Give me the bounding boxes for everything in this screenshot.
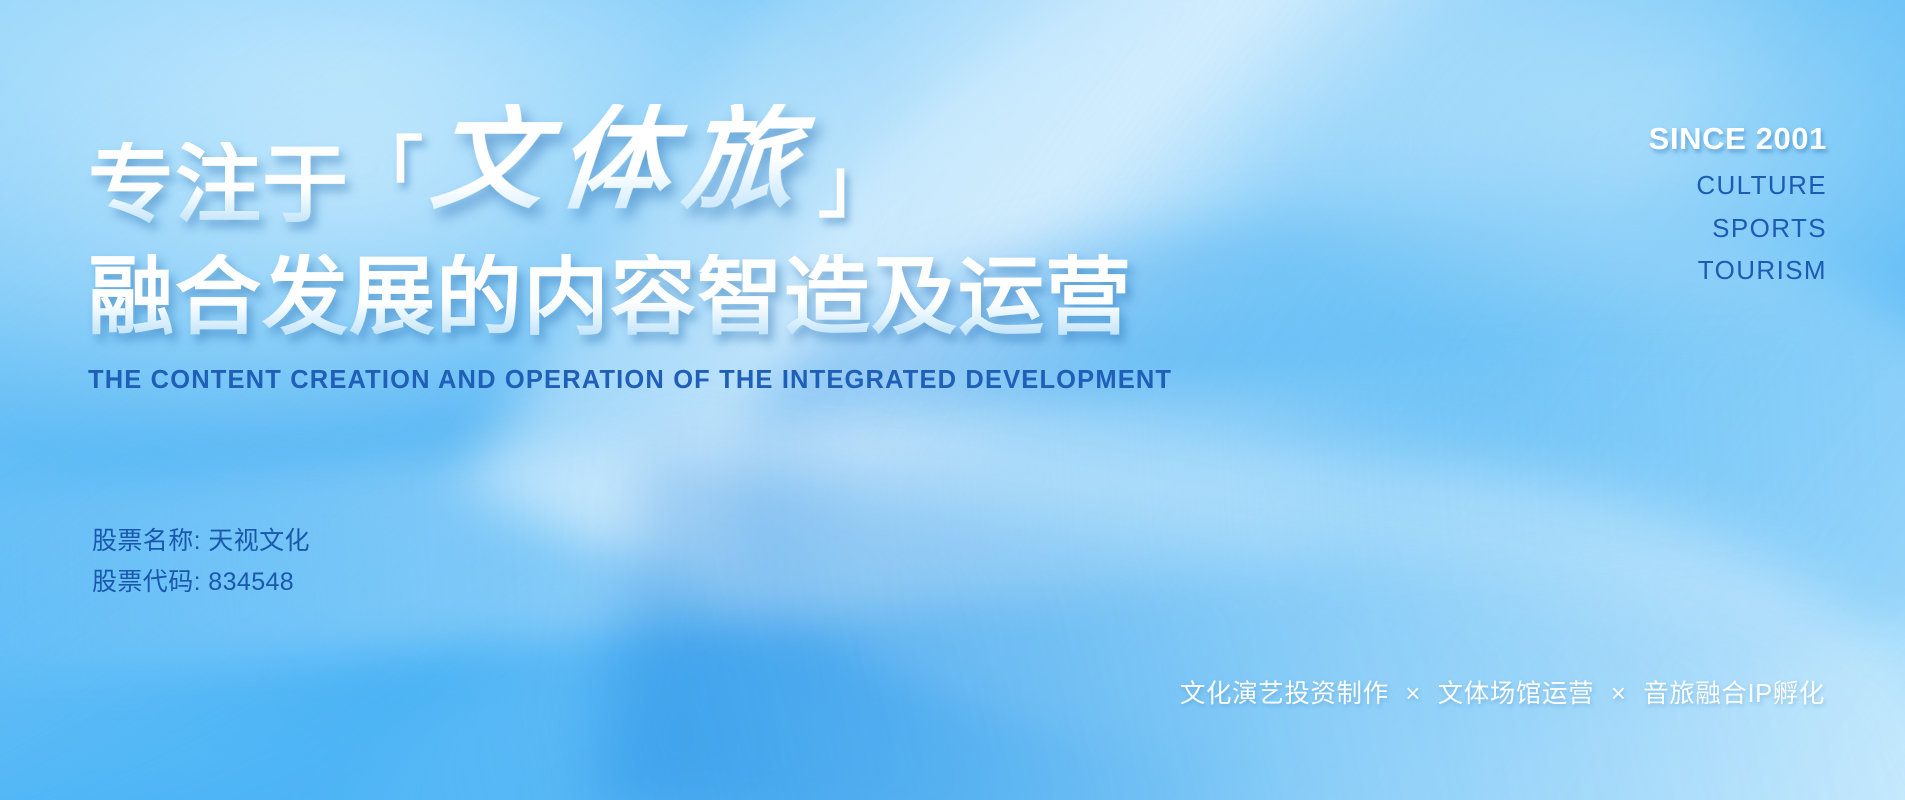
category-label-sports: SPORTS <box>1497 211 1827 246</box>
headline-line-2-text: 融合发展的内容智造及运营 <box>88 254 1132 340</box>
category-label-culture: CULTURE <box>1497 168 1827 203</box>
banner-content: 专注于 「 文体旅 」 融合发展的内容智造及运营 THE CONTENT CRE… <box>0 0 1905 800</box>
tagline-item-2: 文体场馆运营 <box>1438 680 1595 708</box>
stock-name: 股票名称: 天视文化 <box>92 521 310 562</box>
tagline-item-3: 音旅融合IP孵化 <box>1643 680 1825 708</box>
tagline-separator-2: × <box>1602 680 1636 708</box>
quote-open-bracket: 「 <box>349 136 426 208</box>
headline-line-2: 融合发展的内容智造及运营 <box>88 242 1268 340</box>
headline-calligraphy: 文体旅 <box>421 104 821 216</box>
headline-block: 专注于 「 文体旅 」 融合发展的内容智造及运营 THE CONTENT CRE… <box>88 128 1268 395</box>
since-year-label: SINCE 2001 <box>1497 122 1827 156</box>
stock-code: 股票代码: 834548 <box>92 562 310 603</box>
business-tagline: 文化演艺投资制作 × 文体场馆运营 × 音旅融合IP孵化 <box>1180 673 1825 710</box>
right-label-column: SINCE 2001 CULTURE SPORTS TOURISM <box>1497 122 1827 288</box>
quote-close-bracket: 」 <box>816 150 893 222</box>
banner-hero: 专注于 「 文体旅 」 融合发展的内容智造及运营 THE CONTENT CRE… <box>0 0 1905 800</box>
headline-subtitle-english: THE CONTENT CREATION AND OPERATION OF TH… <box>88 366 1268 395</box>
tagline-separator-1: × <box>1396 680 1430 708</box>
headline-line-1: 专注于 「 文体旅 」 <box>88 128 1268 228</box>
tagline-item-1: 文化演艺投资制作 <box>1180 680 1389 708</box>
category-label-tourism: TOURISM <box>1497 253 1827 288</box>
headline-prefix: 专注于 <box>88 142 349 228</box>
stock-info-block: 股票名称: 天视文化 股票代码: 834548 <box>92 521 310 602</box>
